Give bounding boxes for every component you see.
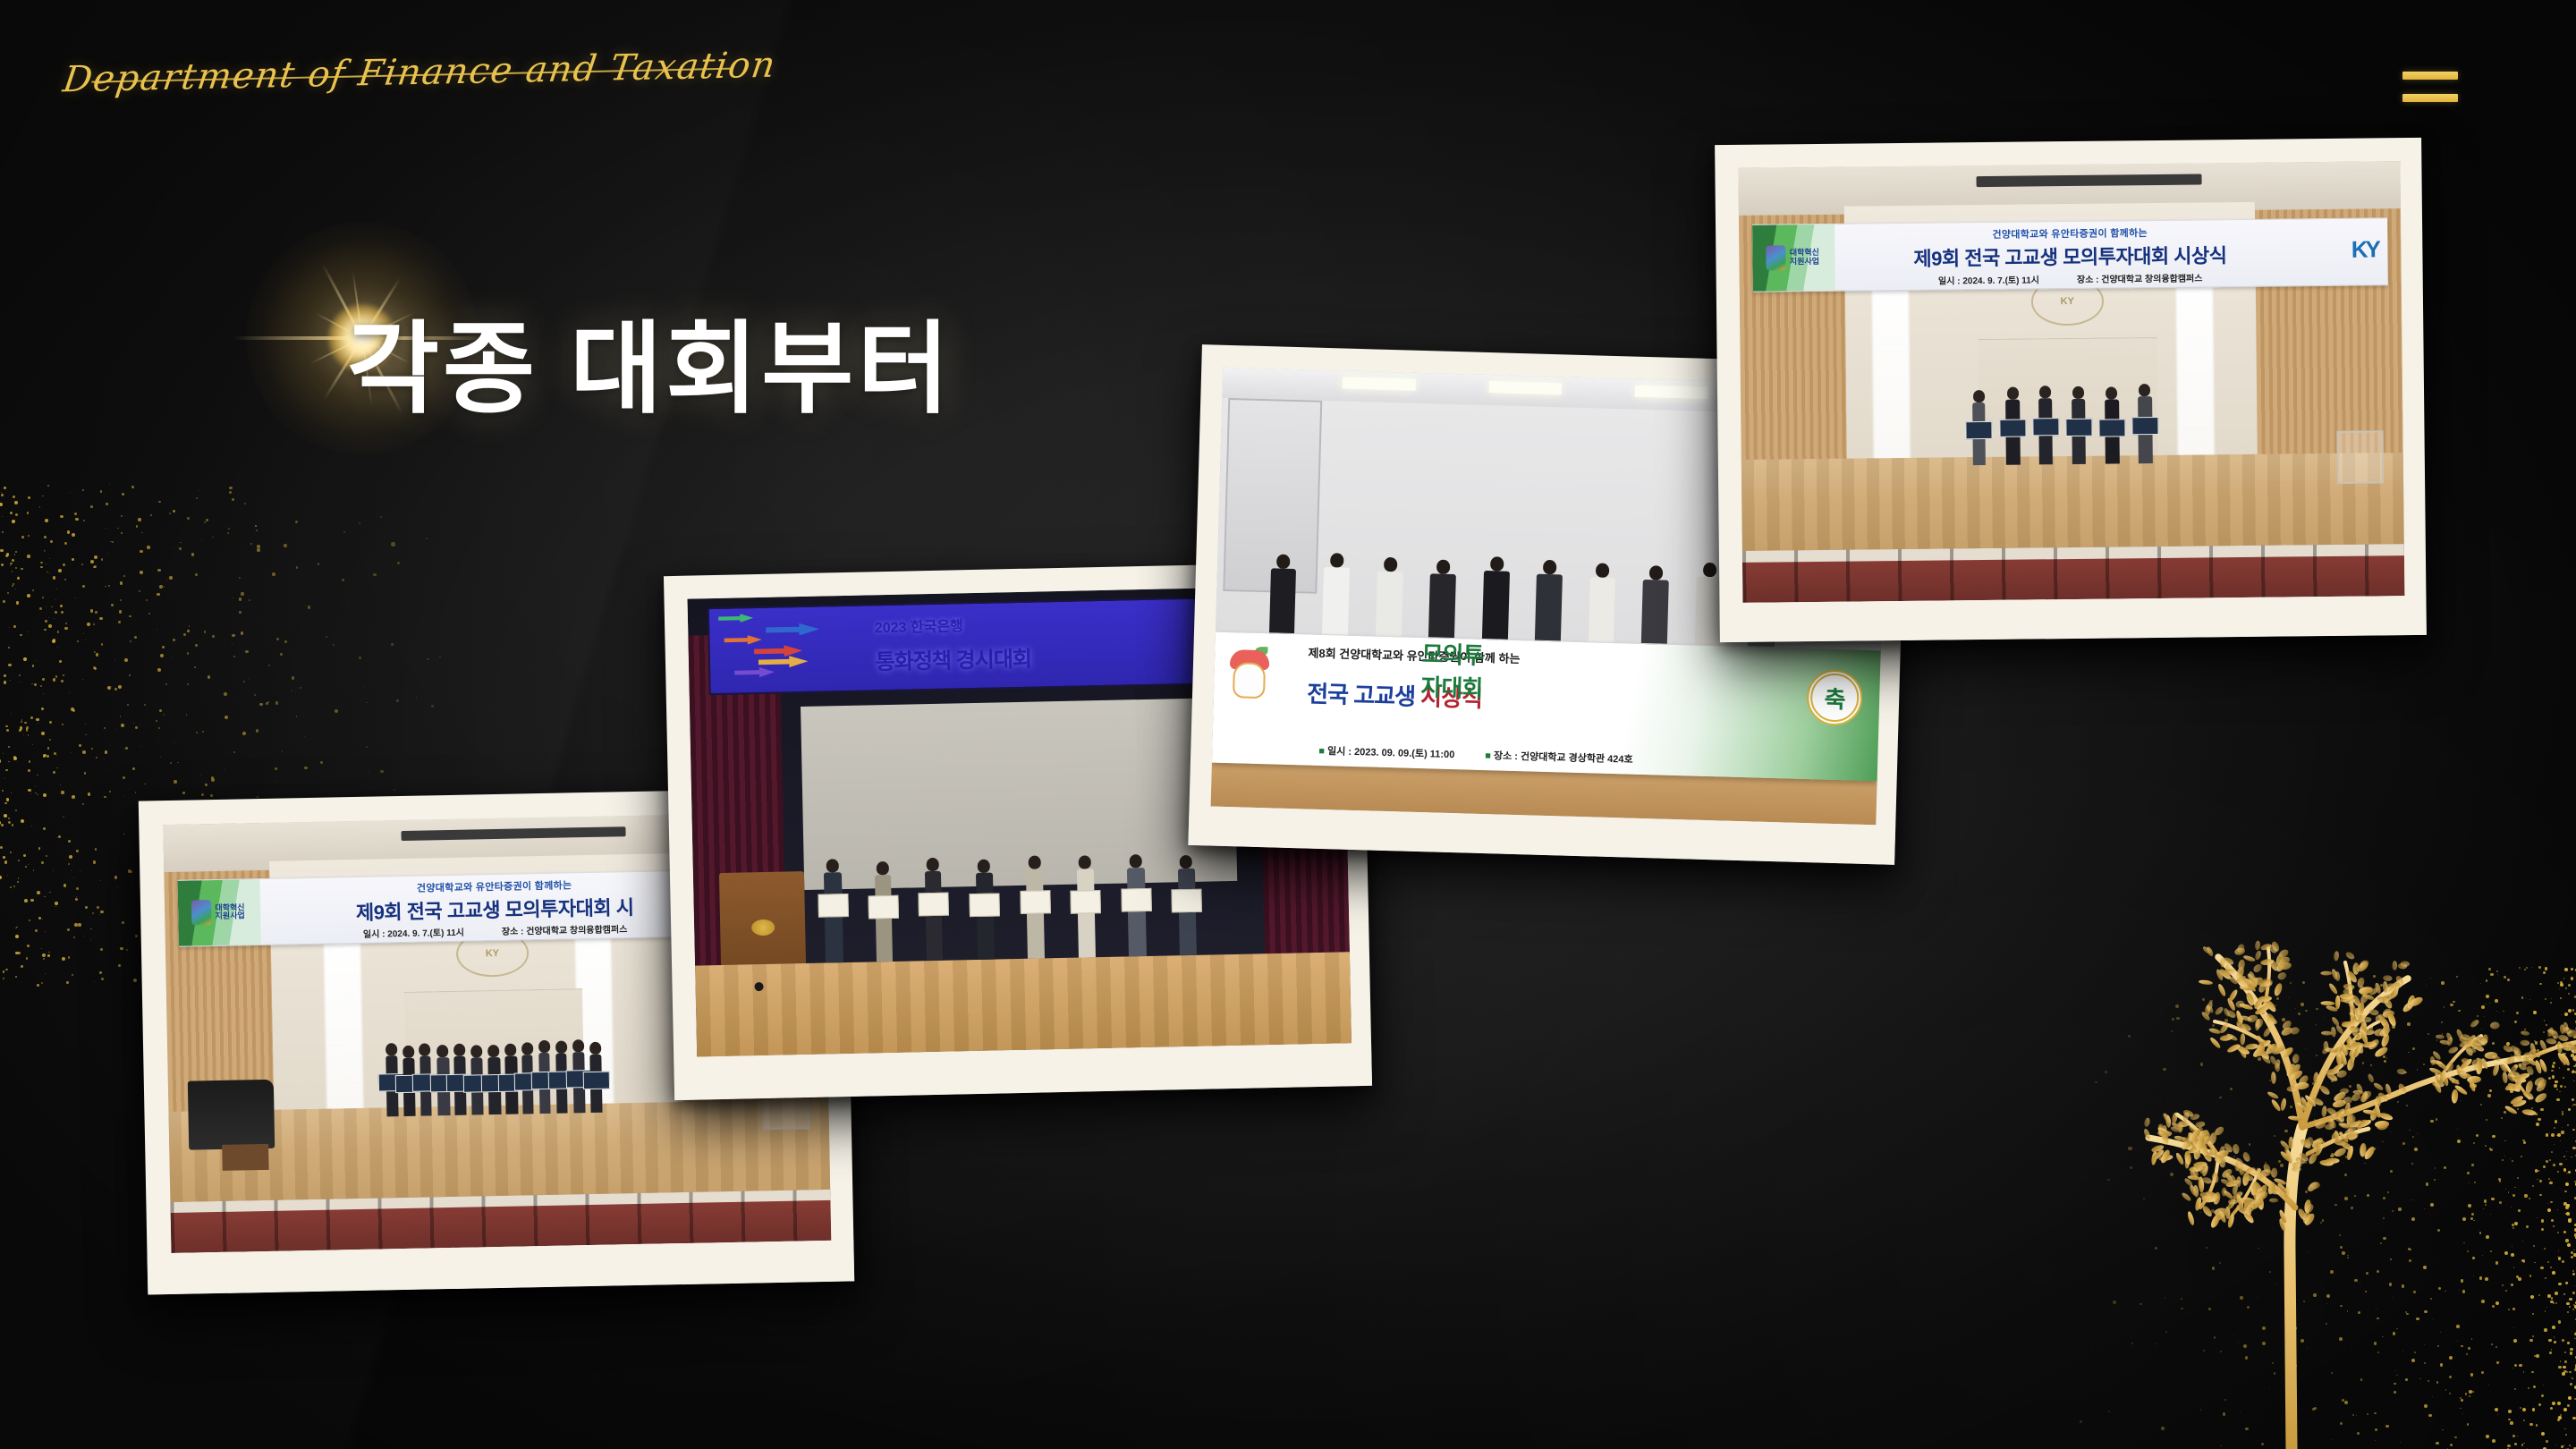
event-banner-8th: 제8회 건양대학교와 유안타증권이 함께 하는 전국 고교생 모의투자대회 시상… (1212, 631, 1881, 781)
banner-place: 장소 : 건양대학교 창의융합캠퍼스 (502, 921, 628, 937)
slide-canvas: KY 대학혁신지원사업 건양대학교와 유안타증권이 함께하는 제9회 전국 고교… (0, 0, 2576, 1449)
banner-title-2: 제9회 전국 고교생 모의투자대회 시상식 (1752, 238, 2388, 273)
led-main-title: 통화정책 경시대회 (875, 641, 1031, 676)
hamburger-bar-bottom (2402, 94, 2458, 102)
brand-logo[interactable]: Department of Finance and Taxation (61, 45, 779, 101)
banner-date: 일시 : 2024. 9. 7.(토) 11시 (363, 924, 464, 939)
page-title: 각종 대회부터 (347, 288, 953, 433)
banner-date-2: 일시 : 2024. 9. 7.(토) 11시 (1938, 272, 2039, 286)
piano (188, 1080, 275, 1149)
door (1224, 398, 1322, 594)
gold-glitter-right (2075, 966, 2576, 1449)
site-header: Department of Finance and Taxation (0, 0, 2576, 170)
banner8-date: 일시 : 2023. 09. 09.(토) 11:00 (1318, 743, 1454, 761)
piano-stool (222, 1144, 268, 1171)
mascot-icon (1227, 648, 1272, 704)
banner8-title: 전국 고교생 모의투자대회 시상식 (1307, 676, 1483, 714)
led-year-title: 2023 한국은행 (875, 614, 963, 638)
golden-tree-icon (2084, 787, 2576, 1449)
banner8-title-p2: 모의투자대회 (1420, 636, 1484, 704)
sponsor-mark-icon: KY (2351, 236, 2378, 264)
congratulation-seal: 축 (1807, 669, 1864, 726)
hamburger-bar-top (2402, 72, 2458, 80)
banner8-title-p1: 전국 고교생 (1307, 681, 1416, 710)
auditorium-seats-2 (1742, 544, 2405, 603)
equipment-cart-2 (2337, 431, 2384, 484)
frame-caption-area-4 (1719, 596, 2426, 642)
scene-auditorium-2: KY 대학혁신지원사업 건양대학교와 유안타증권이 함께하는 제9회 전국 고교… (1738, 161, 2404, 603)
led-screen-artwork (718, 612, 854, 686)
photo-image-4: KY 대학혁신지원사업 건양대학교와 유안타증권이 함께하는 제9회 전국 고교… (1738, 161, 2404, 603)
banner8-supertitle: 제8회 건양대학교와 유안타증권이 함께 하는 (1308, 643, 1520, 666)
event-banner-9th-2: 대학혁신지원사업 건양대학교와 유안타증권이 함께하는 제9회 전국 고교생 모… (1752, 217, 2388, 292)
banner8-place: 장소 : 건양대학교 경상학관 424호 (1485, 748, 1633, 767)
banner-place-2: 장소 : 건양대학교 창의융합캠퍼스 (2077, 270, 2203, 284)
photo-card-9th-contest-award[interactable]: KY 대학혁신지원사업 건양대학교와 유안타증권이 함께하는 제9회 전국 고교… (1715, 138, 2427, 642)
hamburger-menu-icon[interactable] (2402, 72, 2458, 102)
